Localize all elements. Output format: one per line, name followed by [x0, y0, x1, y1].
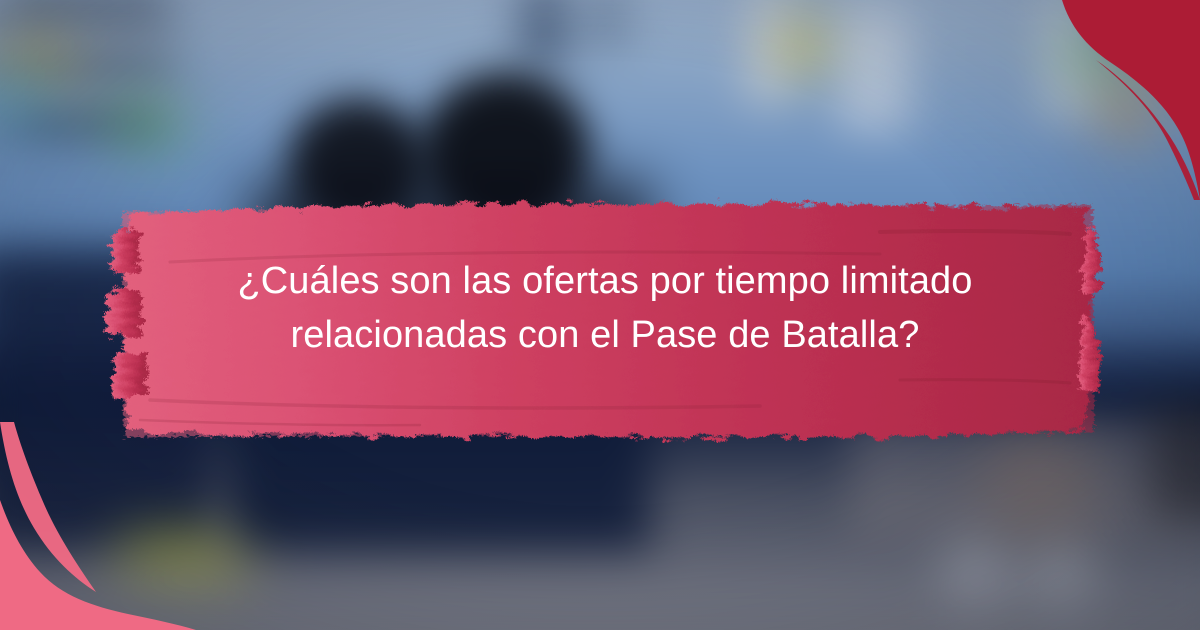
question-headline: ¿Cuáles son las ofertas por tiempo limit… [150, 255, 1060, 363]
share-card: ¿Cuáles son las ofertas por tiempo limit… [0, 0, 1200, 630]
question-line-1: ¿Cuáles son las ofertas por tiempo limit… [150, 255, 1060, 309]
question-line-2: relacionadas con el Pase de Batalla? [150, 309, 1060, 363]
